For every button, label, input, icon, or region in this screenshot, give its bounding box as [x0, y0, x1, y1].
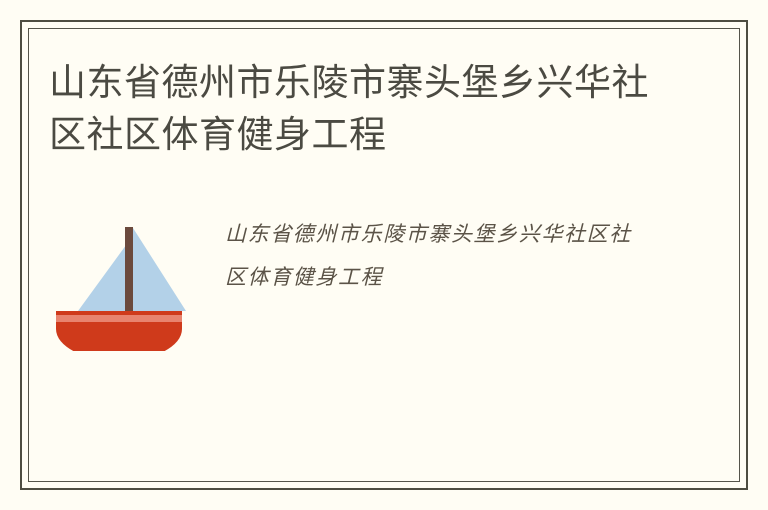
mast-shape: [125, 227, 133, 315]
hull-shape: [56, 322, 182, 351]
hull-edge-shape: [56, 311, 182, 315]
body-row: 山东省德州市乐陵市寨头堡乡兴华社区社区体育健身工程: [49, 205, 669, 351]
sailboat-icon-graphic: [49, 211, 189, 351]
sailboat-icon: [49, 205, 209, 351]
card-content: 山东省德州市乐陵市寨头堡乡兴华社区社区体育健身工程: [0, 0, 768, 510]
page-title: 山东省德州市乐陵市寨头堡乡兴华社区社区体育健身工程: [49, 57, 649, 161]
sail-right-shape: [133, 228, 186, 311]
sail-left-shape: [78, 241, 129, 311]
project-card: 山东省德州市乐陵市寨头堡乡兴华社区社区体育健身工程: [0, 0, 768, 510]
body-paragraph: 山东省德州市乐陵市寨头堡乡兴华社区社区体育健身工程: [209, 205, 645, 299]
